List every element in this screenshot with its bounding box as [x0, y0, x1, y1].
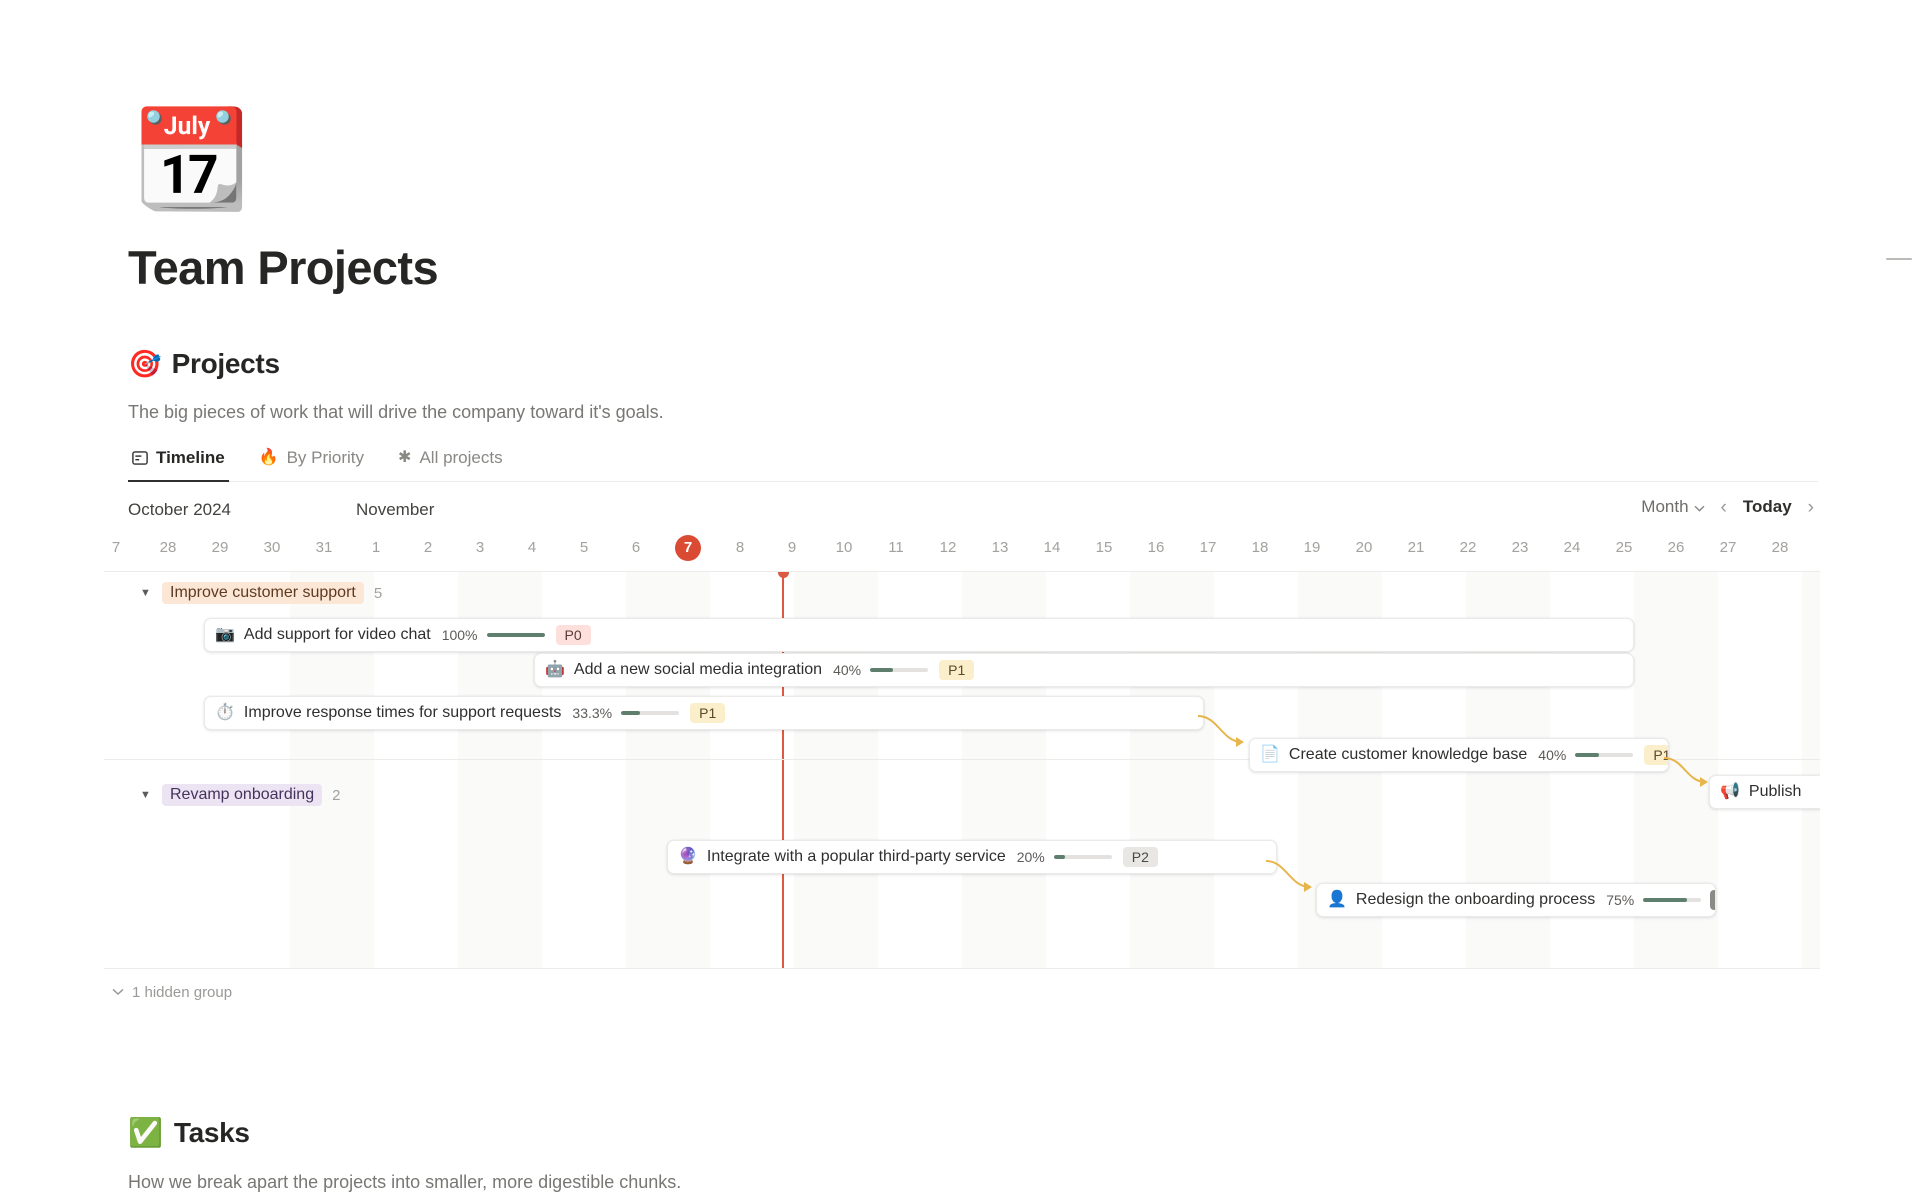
task-title: Add a new social media integration: [574, 661, 822, 679]
task-progress-bar: [1643, 898, 1701, 902]
day-label[interactable]: 10: [823, 535, 865, 561]
task-priority-badge: P1: [939, 660, 974, 680]
day-label[interactable]: 21: [1395, 535, 1437, 561]
day-label[interactable]: 24: [1551, 535, 1593, 561]
hidden-group-label: 1 hidden group: [132, 984, 232, 1001]
day-label[interactable]: 22: [1447, 535, 1489, 561]
day-label[interactable]: 12: [927, 535, 969, 561]
task-title: Create customer knowledge base: [1289, 746, 1527, 764]
task-priority-badge: P1: [690, 703, 725, 723]
task-bar-add-support-for-video-chat[interactable]: 📷 Add support for video chat 100% P0: [204, 618, 1634, 652]
tab-all-projects[interactable]: ✱ All projects: [394, 444, 507, 482]
day-label[interactable]: 2: [407, 535, 449, 561]
task-progress-bar: [1575, 753, 1633, 757]
day-label[interactable]: 26: [1655, 535, 1697, 561]
day-label[interactable]: 27: [1707, 535, 1749, 561]
day-label[interactable]: 6: [615, 535, 657, 561]
day-label[interactable]: 16: [1135, 535, 1177, 561]
task-title: Publish: [1749, 783, 1801, 801]
task-bar-create-customer-knowledge-base[interactable]: 📄 Create customer knowledge base 40% P1: [1249, 738, 1669, 772]
caret-down-icon[interactable]: ▼: [140, 587, 152, 599]
task-priority-badge: P1: [1644, 745, 1669, 765]
grid-band: [1802, 572, 1820, 968]
day-label[interactable]: 3: [459, 535, 501, 561]
task-percent: 75%: [1606, 892, 1634, 908]
task-percent: 100%: [442, 627, 478, 643]
group-name[interactable]: Improve customer support: [162, 582, 364, 604]
asterisk-icon: ✱: [398, 450, 411, 466]
today-pill: 7: [675, 535, 701, 561]
group-count: 2: [332, 787, 340, 804]
chevron-down-icon: [112, 985, 124, 999]
day-label[interactable]: 19: [1291, 535, 1333, 561]
timeline-grid[interactable]: ▼ Improve customer support 5 📷 Add suppo…: [104, 571, 1820, 969]
person-emoji: 👤: [1327, 892, 1347, 908]
day-label[interactable]: 30: [251, 535, 293, 561]
target-emoji: 🎯: [128, 351, 162, 378]
task-bar-improve-response-times-for-support-requests[interactable]: ⏱️ Improve response times for support re…: [204, 696, 1204, 730]
task-bar-publish[interactable]: 📢 Publish: [1709, 775, 1820, 809]
day-label[interactable]: 23: [1499, 535, 1541, 561]
month-label-october: October 2024: [128, 500, 231, 520]
hidden-group-toggle[interactable]: 1 hidden group: [104, 975, 1820, 1009]
day-label[interactable]: 28: [147, 535, 189, 561]
calendar-emoji[interactable]: 📆: [132, 108, 236, 212]
notion-page: 📆 Team Projects 🎯 Projects The big piece…: [0, 0, 1920, 1199]
day-label[interactable]: 13: [979, 535, 1021, 561]
group-count: 5: [374, 585, 382, 602]
projects-section-heading: 🎯 Projects: [128, 348, 280, 380]
day-label[interactable]: 8: [719, 535, 761, 561]
crystal-ball-emoji: 🔮: [678, 849, 698, 865]
day-label[interactable]: 20: [1343, 535, 1385, 561]
task-progress-bar: [870, 668, 928, 672]
task-percent: 40%: [1538, 747, 1566, 763]
task-priority-badge: P2: [1123, 847, 1158, 867]
camera-emoji: 📷: [215, 627, 235, 643]
day-label[interactable]: 11: [875, 535, 917, 561]
fire-emoji: 🔥: [259, 450, 279, 466]
projects-title[interactable]: Projects: [172, 348, 280, 380]
task-priority-badge: P0: [556, 625, 591, 645]
timeline-month-row: October 2024 November: [128, 500, 1820, 526]
day-label[interactable]: 4: [511, 535, 553, 561]
task-progress-bar: [487, 633, 545, 637]
caret-down-icon[interactable]: ▼: [140, 789, 152, 801]
task-percent: 40%: [833, 662, 861, 678]
day-label-today[interactable]: 7: [667, 535, 709, 561]
task-percent: 33.3%: [572, 705, 612, 721]
day-label[interactable]: 29: [199, 535, 241, 561]
task-title: Integrate with a popular third-party ser…: [707, 848, 1006, 866]
task-bar-redesign-the-onboarding-process[interactable]: 👤 Redesign the onboarding process 75% →: [1316, 883, 1716, 917]
tasks-description: How we break apart the projects into sma…: [128, 1172, 681, 1193]
tab-all-projects-label: All projects: [419, 448, 502, 468]
month-label-november: November: [356, 500, 434, 520]
tab-by-priority[interactable]: 🔥 By Priority: [255, 444, 368, 482]
day-label[interactable]: 7: [95, 535, 137, 561]
timeline-icon: [132, 451, 148, 465]
task-bar-add-a-new-social-media-integration[interactable]: 🤖 Add a new social media integration 40%…: [534, 653, 1634, 687]
task-title: Improve response times for support reque…: [244, 704, 561, 722]
task-bar-integrate-with-a-popular-third-party-service[interactable]: 🔮 Integrate with a popular third-party s…: [667, 840, 1277, 874]
task-title: Redesign the onboarding process: [1356, 891, 1595, 909]
task-progress-bar: [621, 711, 679, 715]
stopwatch-emoji: ⏱️: [215, 705, 235, 721]
day-label[interactable]: 5: [563, 535, 605, 561]
timeline-day-ruler: 7282930311234567891011121314151617181920…: [104, 535, 1820, 571]
scroll-edge-indicator: [1886, 258, 1912, 260]
checkbox-emoji: ✅: [128, 1119, 163, 1147]
task-progress-bar: [1054, 855, 1112, 859]
view-tabs: Timeline 🔥 By Priority ✱ All projects: [128, 443, 1818, 482]
task-percent: 20%: [1017, 849, 1045, 865]
page-emoji: 📄: [1260, 747, 1280, 763]
day-label[interactable]: 15: [1083, 535, 1125, 561]
group-name[interactable]: Revamp onboarding: [162, 784, 322, 806]
megaphone-emoji: 📢: [1720, 784, 1740, 800]
day-label[interactable]: 18: [1239, 535, 1281, 561]
day-label[interactable]: 14: [1031, 535, 1073, 561]
page-title[interactable]: Team Projects: [128, 240, 438, 295]
day-label[interactable]: 17: [1187, 535, 1229, 561]
tab-by-priority-label: By Priority: [287, 448, 364, 468]
projects-description: The big pieces of work that will drive t…: [128, 402, 664, 423]
tab-timeline[interactable]: Timeline: [128, 444, 229, 482]
task-title: Add support for video chat: [244, 626, 431, 644]
day-label[interactable]: 28: [1759, 535, 1801, 561]
group-header-revamp-onboarding[interactable]: ▼ Revamp onboarding 2: [104, 774, 340, 816]
day-label[interactable]: 25: [1603, 535, 1645, 561]
task-open-arrow-icon[interactable]: →: [1710, 890, 1716, 910]
day-label[interactable]: 9: [771, 535, 813, 561]
group-header-improve-customer-support[interactable]: ▼ Improve customer support 5: [104, 572, 382, 614]
day-label[interactable]: 1: [355, 535, 397, 561]
robot-emoji: 🤖: [545, 662, 565, 678]
tasks-title[interactable]: Tasks: [174, 1117, 250, 1149]
today-marker-dot: [778, 571, 789, 578]
day-label[interactable]: 31: [303, 535, 345, 561]
tasks-section-heading: ✅ Tasks: [128, 1117, 250, 1149]
tab-timeline-label: Timeline: [156, 448, 225, 468]
